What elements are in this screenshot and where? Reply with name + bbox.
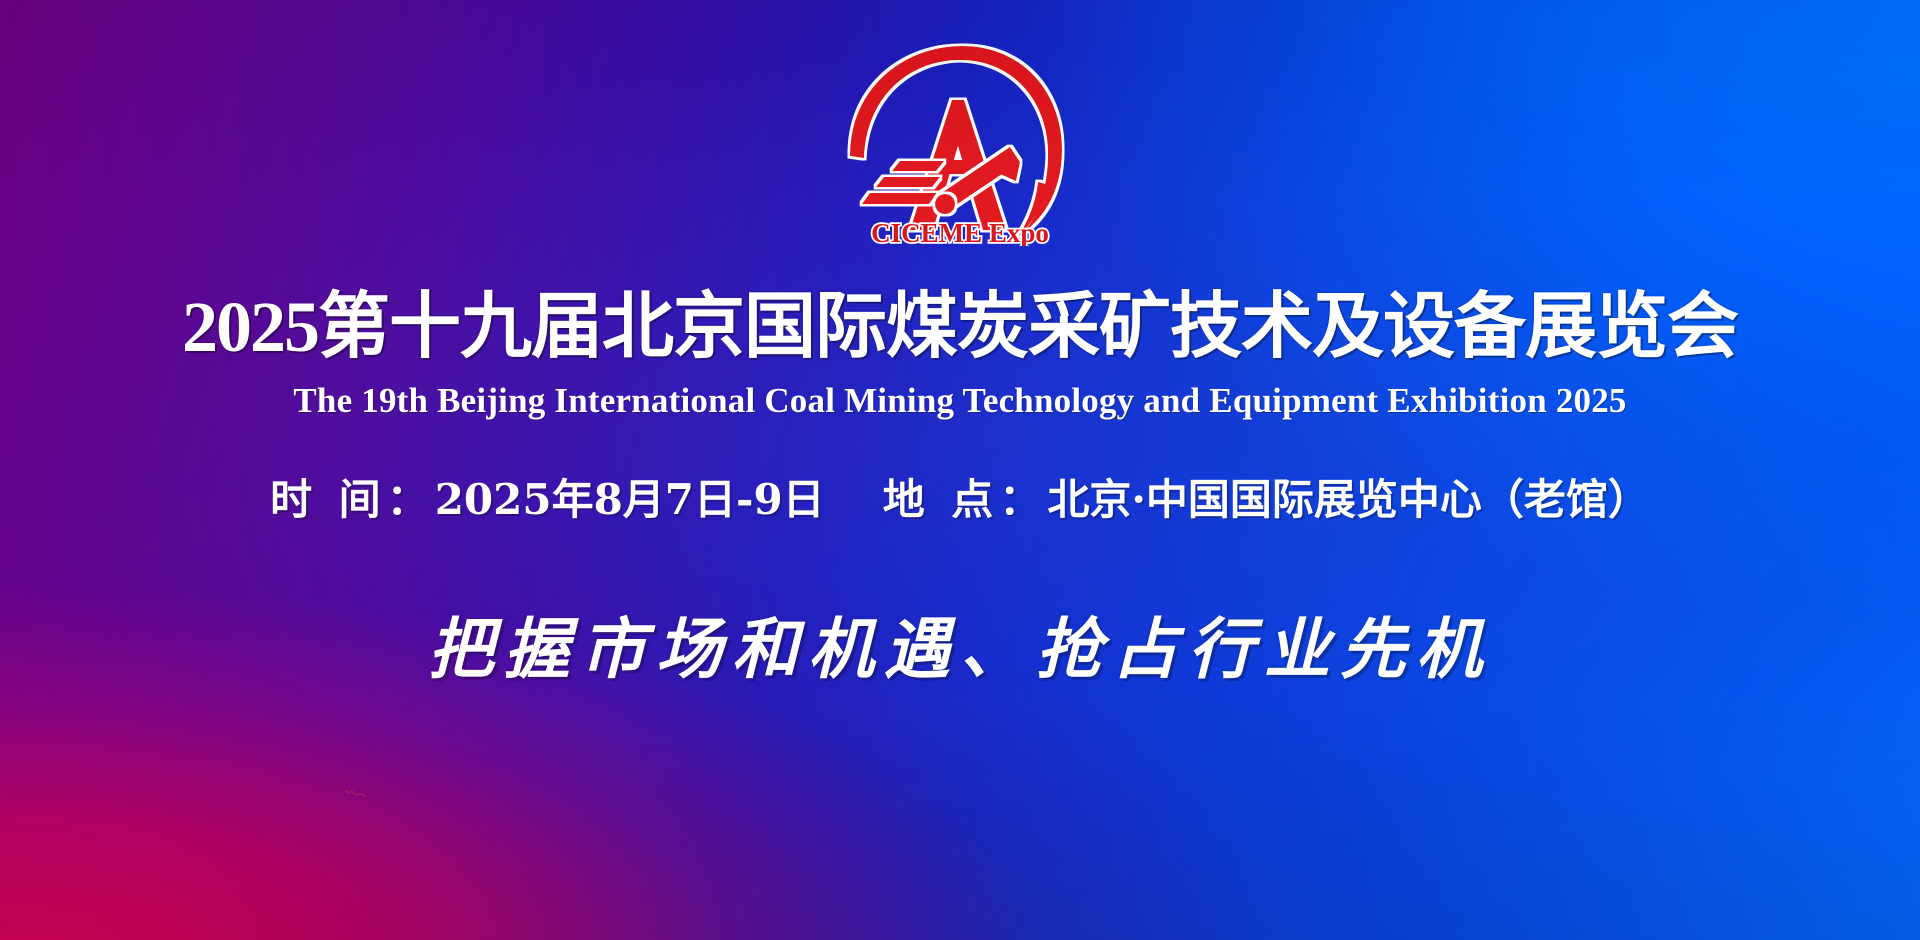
slogan-text: 把握市场和机遇、抢占行业先机 [0,606,1920,692]
logo-speed-lines-icon [862,161,944,204]
background-artifact [344,789,366,798]
venue-value: 北京·中国国际展览中心（老馆） [1047,475,1650,524]
page-title-english: The 19th Beijing International Coal Mini… [0,380,1920,422]
logo-dot-icon [935,194,955,214]
event-info-row: 时 间：2025年8月7日-9日地 点：北京·中国国际展览中心（老馆） [0,474,1920,526]
date-label: 时 间： [270,475,435,524]
exhibition-banner: CICEME Expo 2025第十九届北京国际煤炭采矿技术及设备展览会 The… [0,0,1920,940]
date-value: 2025年8月7日-9日 [435,475,825,524]
page-title-chinese: 2025第十九届北京国际煤炭采矿技术及设备展览会 [0,286,1920,367]
page-title-year: 2025 [182,287,318,367]
page-title-chinese-text: 第十九届北京国际煤炭采矿技术及设备展览会 [318,283,1738,368]
logo-wordmark: CICEME Expo [871,218,1049,246]
venue-label: 地 点： [883,475,1048,524]
ciceme-expo-logo: CICEME Expo [840,34,1080,246]
